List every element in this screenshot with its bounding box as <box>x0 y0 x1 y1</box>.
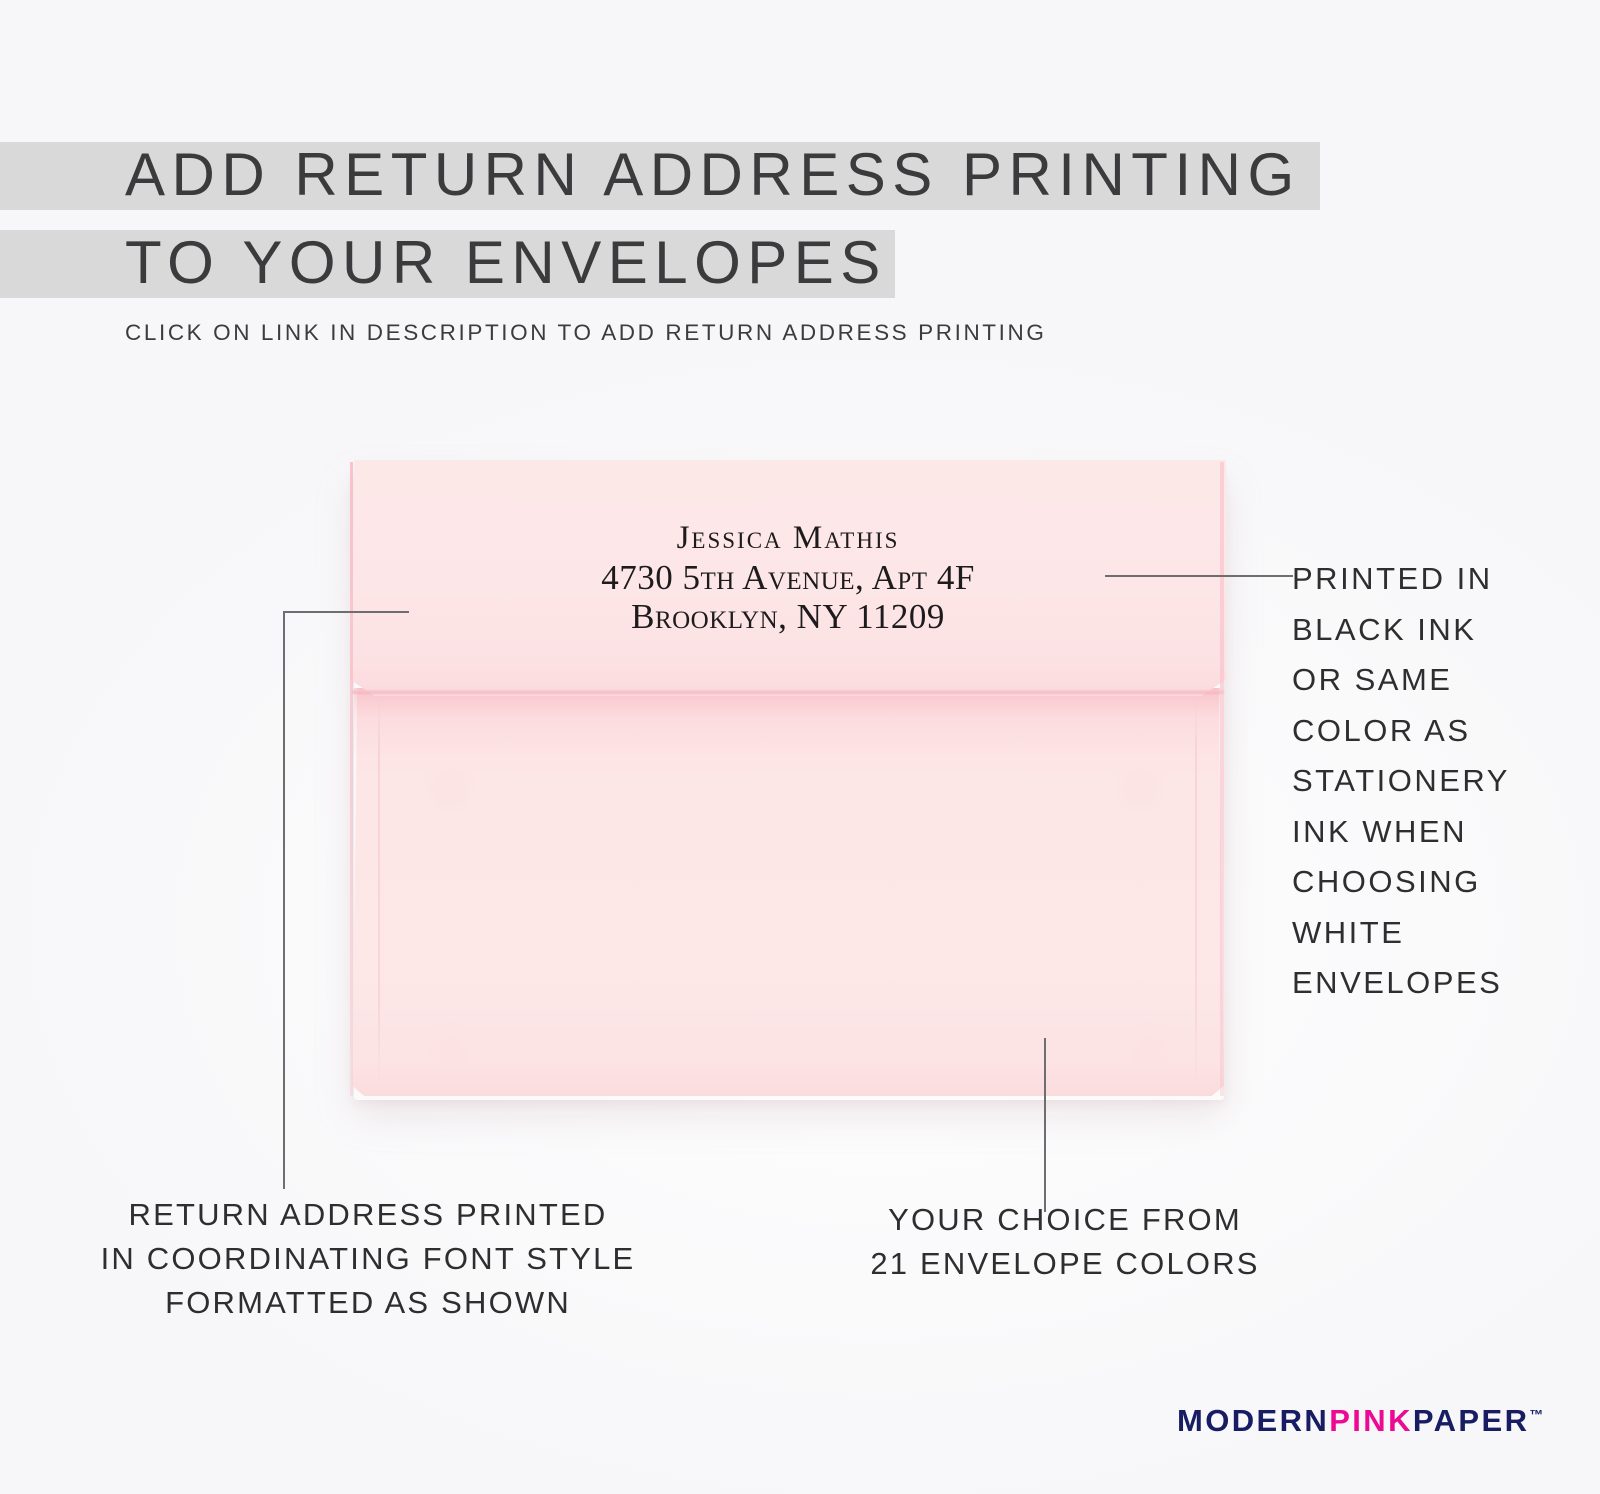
page-subtitle: CLICK ON LINK IN DESCRIPTION TO ADD RETU… <box>125 320 1046 346</box>
title-line-1-row: ADD RETURN ADDRESS PRINTING <box>0 142 1600 210</box>
annotation-printing-ink: PRINTED IN BLACK INK OR SAME COLOR AS ST… <box>1292 554 1592 1009</box>
annotation-right-line-5: STATIONERY <box>1292 756 1592 807</box>
return-address-street: 4730 5th Avenue, Apt 4F <box>350 560 1226 595</box>
annotation-right-line-1: PRINTED IN <box>1292 554 1592 605</box>
annotation-right-line-4: COLOR AS <box>1292 706 1592 757</box>
annotation-bottom-center-line-2: 21 ENVELOPE COLORS <box>840 1242 1290 1286</box>
logo-part-pink: PINK <box>1329 1403 1413 1438</box>
annotation-bottom-left-line-2: IN COORDINATING FONT STYLE <box>58 1237 678 1281</box>
return-address-city-state-zip: Brooklyn, NY 11209 <box>350 599 1226 634</box>
envelope-texture-mark-3 <box>420 1020 480 1080</box>
annotation-right-line-2: BLACK INK <box>1292 605 1592 656</box>
leader-line-center-vertical <box>1044 1038 1046 1212</box>
leader-line-right-horizontal <box>1105 575 1293 577</box>
envelope-texture-mark-4 <box>1120 1020 1180 1080</box>
annotation-return-address-font: RETURN ADDRESS PRINTED IN COORDINATING F… <box>58 1193 678 1325</box>
return-address-block: Jessica Mathis 4730 5th Avenue, Apt 4F B… <box>350 522 1226 634</box>
envelope-inner-shadow <box>354 688 1220 758</box>
title-line-2-row: TO YOUR ENVELOPES <box>0 230 1600 298</box>
trademark-symbol: ™ <box>1529 1407 1543 1423</box>
annotation-right-line-3: OR SAME <box>1292 655 1592 706</box>
page-title-line-1: ADD RETURN ADDRESS PRINTING <box>125 140 1301 210</box>
logo-part-paper: PAPER <box>1413 1403 1530 1438</box>
annotation-bottom-left-line-1: RETURN ADDRESS PRINTED <box>58 1193 678 1237</box>
return-address-name: Jessica Mathis <box>350 522 1226 555</box>
envelope-mockup: Jessica Mathis 4730 5th Avenue, Apt 4F B… <box>350 460 1224 1098</box>
annotation-envelope-colors: YOUR CHOICE FROM 21 ENVELOPE COLORS <box>840 1198 1290 1286</box>
envelope-seam-right <box>1195 696 1197 1088</box>
envelope-seam-left <box>378 696 380 1088</box>
annotation-bottom-left-line-3: FORMATTED AS SHOWN <box>58 1281 678 1325</box>
annotation-bottom-center-line-1: YOUR CHOICE FROM <box>840 1198 1290 1242</box>
envelope-flap-edge <box>352 690 1224 694</box>
logo-part-modern: MODERN <box>1177 1403 1329 1438</box>
annotation-right-line-6: INK WHEN <box>1292 807 1592 858</box>
envelope-texture-mark-1 <box>420 760 480 820</box>
leader-line-left-vertical <box>283 611 285 1189</box>
annotation-right-line-7: CHOOSING <box>1292 857 1592 908</box>
header-block: ADD RETURN ADDRESS PRINTING TO YOUR ENVE… <box>0 142 1600 318</box>
annotation-right-line-8: WHITE <box>1292 908 1592 959</box>
annotation-right-line-9: ENVELOPES <box>1292 958 1592 1009</box>
leader-line-left-horizontal <box>283 611 409 613</box>
brand-logo[interactable]: MODERNPINKPAPER™ <box>1177 1403 1543 1439</box>
page-title-line-2: TO YOUR ENVELOPES <box>125 228 887 298</box>
envelope-texture-mark-2 <box>1110 760 1170 820</box>
